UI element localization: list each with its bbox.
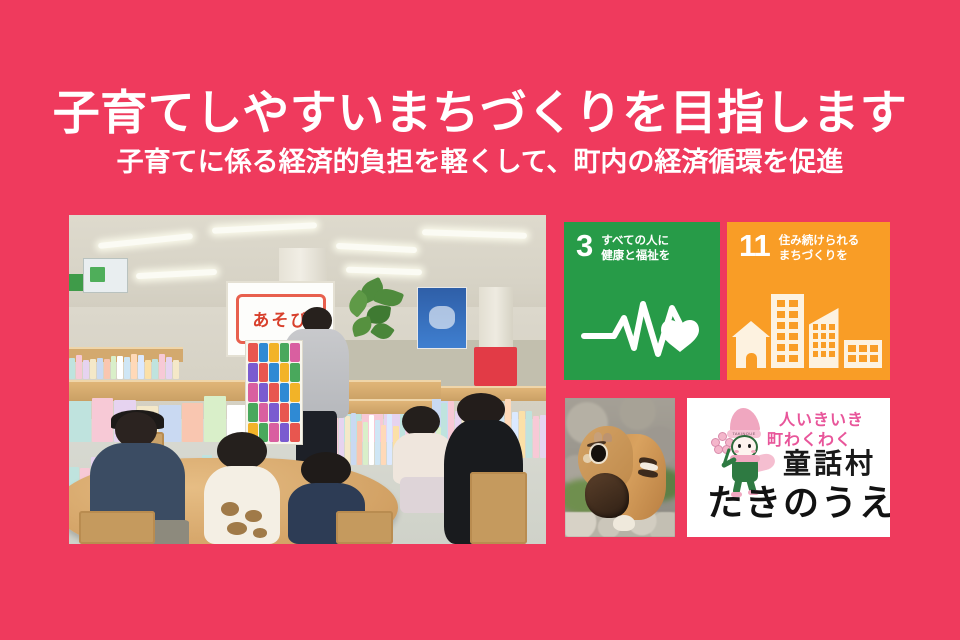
sdg-card-11: 11 住み続けられる まちづくりを xyxy=(727,222,890,380)
sdg-line-2: まちづくりを xyxy=(779,249,860,264)
alphabet-board xyxy=(245,340,302,445)
eye xyxy=(591,445,605,462)
building-group xyxy=(736,294,882,368)
child-one xyxy=(203,432,284,544)
cheek xyxy=(734,450,739,453)
angled-tower-shape xyxy=(809,308,839,368)
sdg-text: すべての人に 健康と福祉を xyxy=(601,232,670,264)
emergency-exit-sign-icon xyxy=(83,258,128,293)
wall-poster xyxy=(417,287,467,348)
sdg-text: 住み続けられる まちづくりを xyxy=(779,232,860,264)
chair xyxy=(336,511,393,544)
chipmunk-photo xyxy=(565,398,675,537)
page-subtitle: 子育てに係る経済的負担を軽くして、町内の経済循環を促進 xyxy=(0,148,960,178)
pattern-spot xyxy=(221,502,239,516)
pattern-spot xyxy=(253,528,267,537)
sdg-number: 3 xyxy=(576,232,592,261)
pattern-spot xyxy=(245,510,262,523)
sdg-number: 11 xyxy=(739,232,770,261)
tower-shape xyxy=(771,294,804,368)
chair xyxy=(470,472,527,544)
spotted-top xyxy=(204,466,280,544)
eye xyxy=(738,444,741,448)
house-shape xyxy=(736,336,766,368)
book-row xyxy=(69,353,179,379)
takinoue-logo: TAKINOUE 人いきいき 町わくわく 童話村 たきのうえ xyxy=(687,398,890,537)
library-photo: あそび xyxy=(69,215,546,544)
sdg-card-3: 3 すべての人に 健康と福祉を xyxy=(564,222,720,380)
sdg-line-2: 健康と福祉を xyxy=(601,249,670,264)
seed-held xyxy=(585,473,629,517)
city-buildings-icon xyxy=(727,288,890,372)
library-scene: あそび xyxy=(69,215,546,544)
sdg-header: 11 住み続けられる まちづくりを xyxy=(739,232,878,264)
page-title: 子育てしやすいまちづくりを目指します xyxy=(0,88,960,139)
head xyxy=(301,452,351,487)
logo-town-name: たきのうえ xyxy=(707,474,890,526)
pulse-heart-icon xyxy=(564,288,720,372)
head xyxy=(217,432,267,470)
chair xyxy=(79,511,155,544)
pattern-spot xyxy=(227,522,247,535)
cheek xyxy=(751,450,756,453)
headline-block: 子育てしやすいまちづくりを目指します 子育てに係る経済的負担を軽くして、町内の経… xyxy=(0,88,960,177)
low-block-shape xyxy=(844,340,882,368)
paw xyxy=(613,515,635,532)
eye xyxy=(748,444,751,448)
sdg-header: 3 すべての人に 健康と福祉を xyxy=(576,232,708,264)
sdg-line-1: すべての人に xyxy=(601,234,670,249)
red-display-box xyxy=(474,347,517,386)
slide-root: 子育てしやすいまちづくりを目指します 子育てに係る経済的負担を軽くして、町内の経… xyxy=(0,0,960,640)
sdg-line-1: 住み続けられる xyxy=(779,234,860,249)
